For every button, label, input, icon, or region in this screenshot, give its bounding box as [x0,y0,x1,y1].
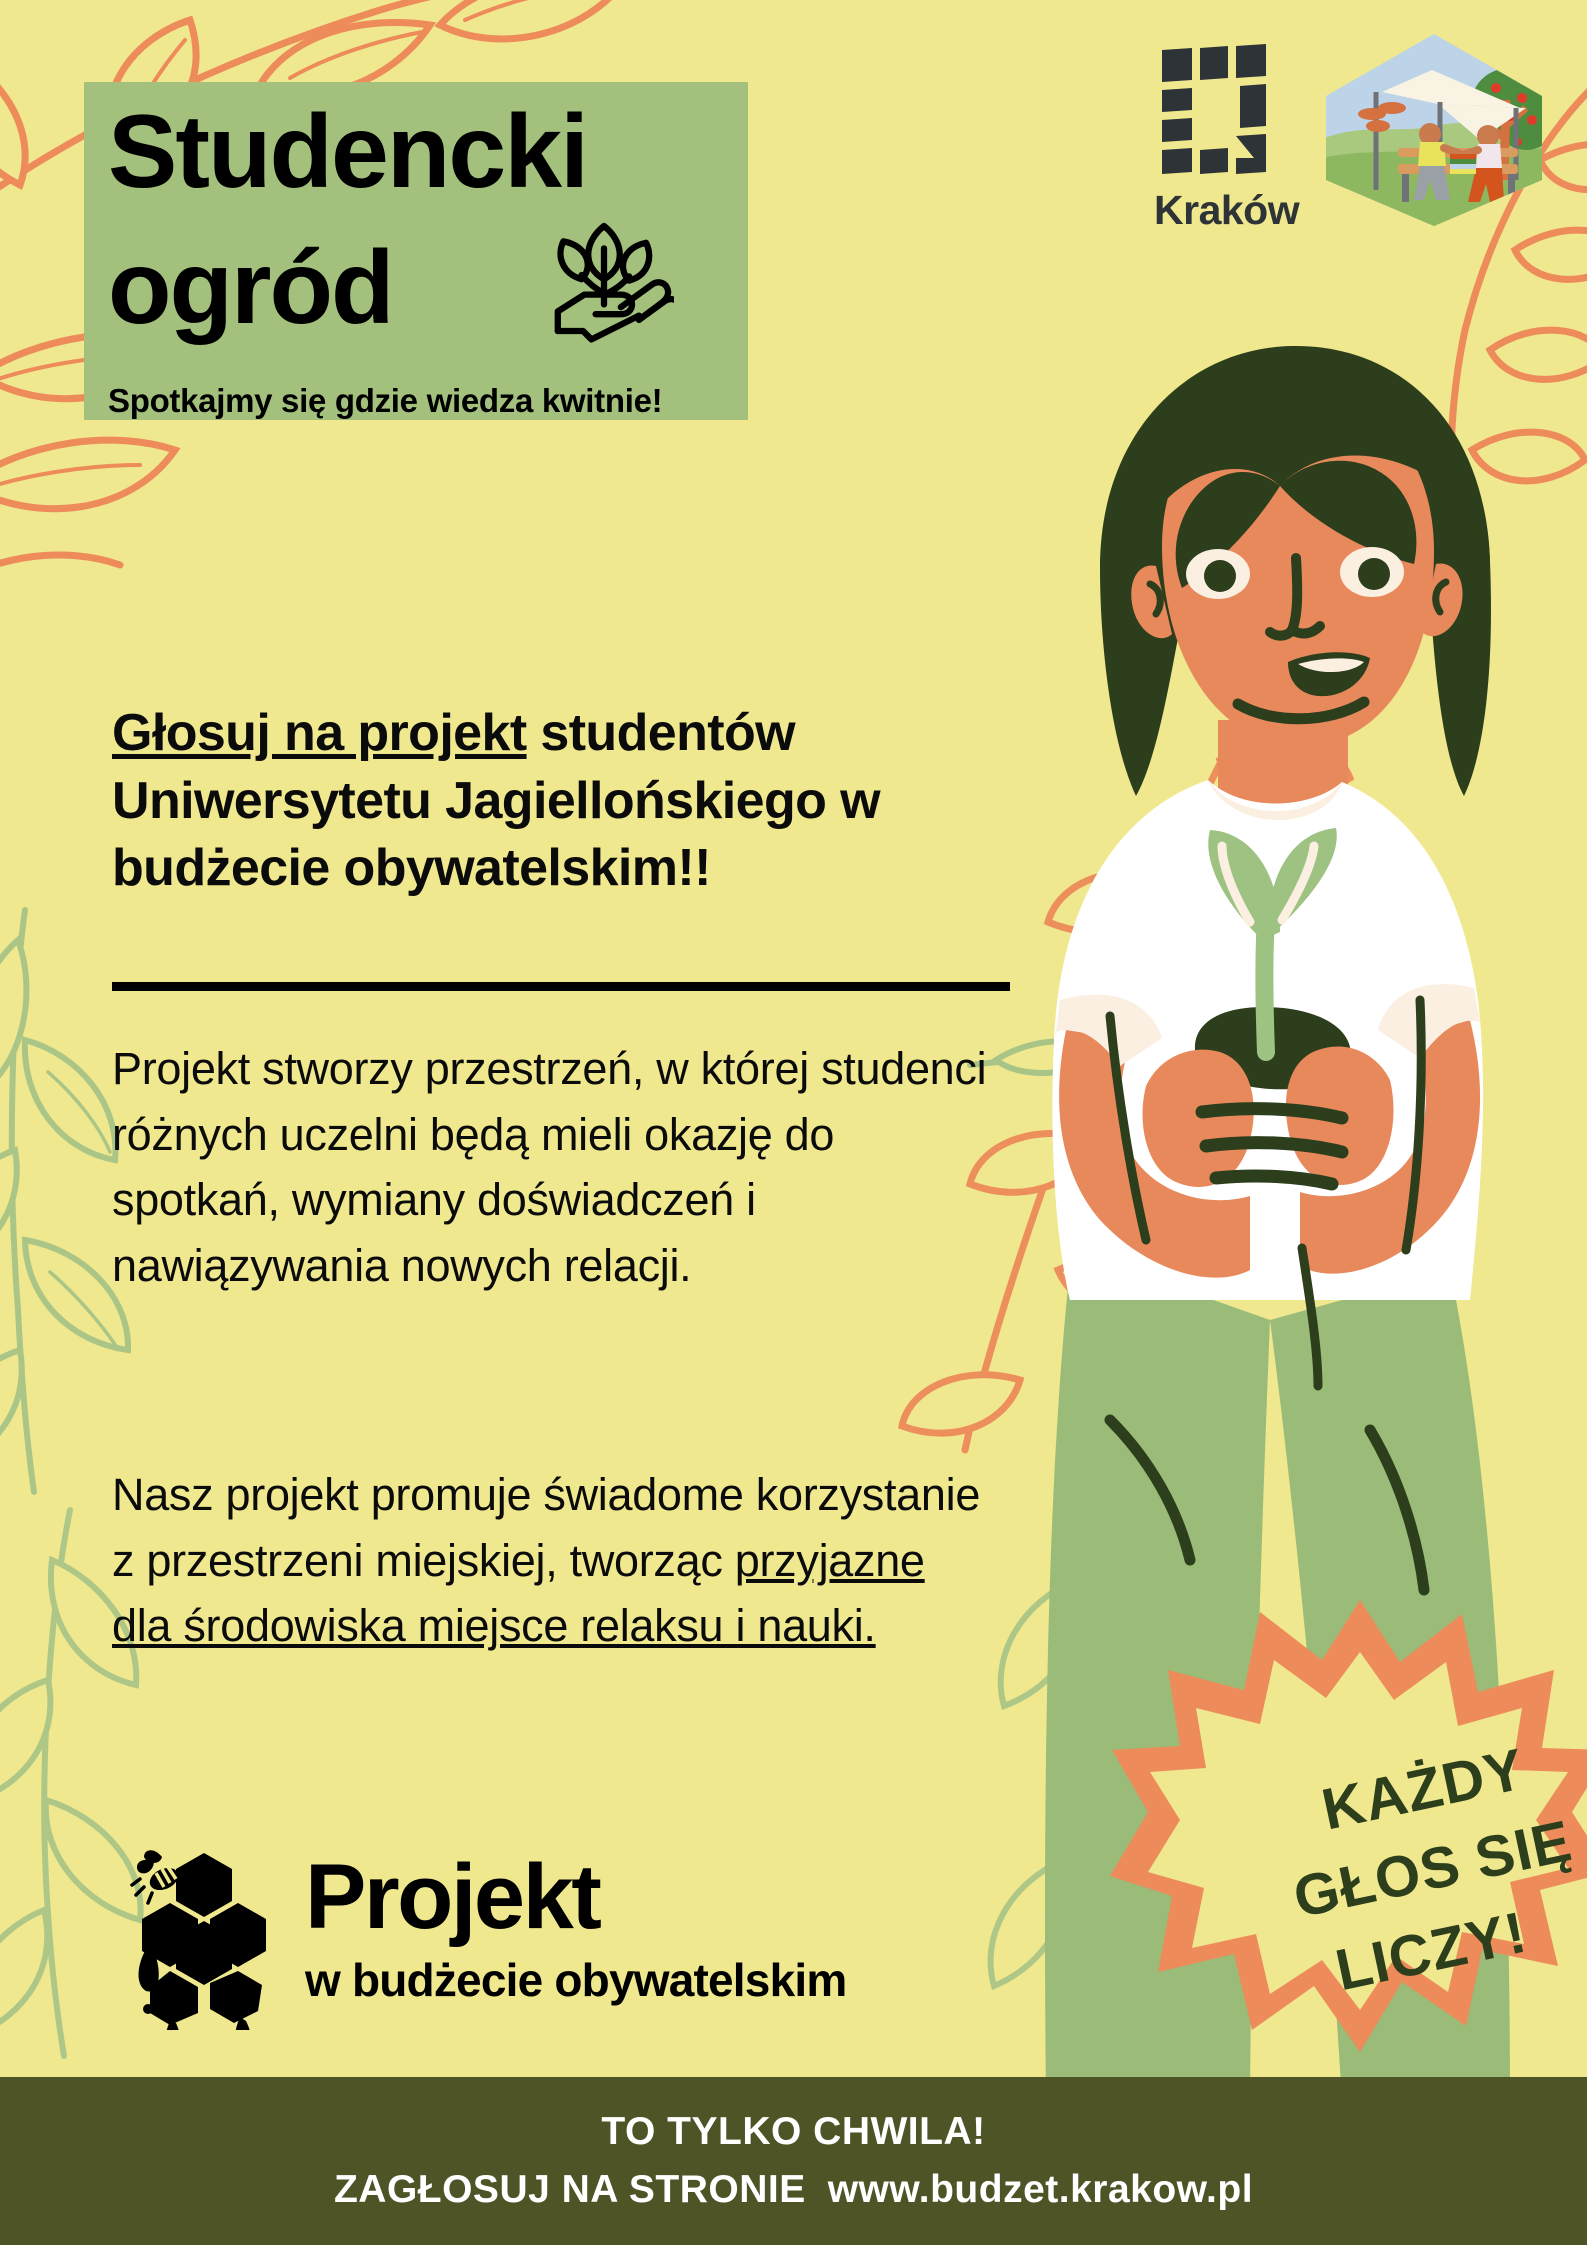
footer-url[interactable]: www.budzet.krakow.pl [828,2168,1253,2211]
krakow-wordmark: Kraków [1154,187,1288,234]
title-card: Studencki ogród Spotkajmy się g [84,82,748,420]
park-bench-hexagon-illustration [1320,30,1548,230]
krakow-logo: Kraków [1158,40,1288,240]
krakow-mark-icon [1158,40,1270,176]
body-paragraph-2: Nasz projekt promuje świadome korzystani… [112,1462,992,1659]
footer-line-1: TO TYLKO CHWILA! [601,2110,985,2154]
horizontal-divider [112,982,1010,991]
hand-holding-plant-icon [534,212,674,352]
projekt-budget-logo: Projekt w budżecie obywatelskim [120,1845,910,2035]
page-title-line1: Studencki [108,98,587,207]
projekt-logo-subtitle: w budżecie obywatelskim [305,1957,846,2003]
body-paragraph-1: Projekt stworzy przestrzeń, w której stu… [112,1036,992,1299]
starburst-badge: KAŻDY GŁOS SIĘ LICZY! [1110,1600,1587,2060]
page-subtitle: Spotkajmy się gdzie wiedza kwitnie! [108,382,662,420]
poster-root: Studencki ogród Spotkajmy się g [0,0,1587,2245]
bee-honeycomb-icon [120,1845,290,2030]
footer-cta-text: ZAGŁOSUJ NA STRONIE [334,2168,806,2211]
footer-line-2: ZAGŁOSUJ NA STRONIEwww.budzet.krakow.pl [334,2168,1253,2212]
lead-underlined-text: Głosuj na projekt [112,704,527,762]
footer-bar: TO TYLKO CHWILA! ZAGŁOSUJ NA STRONIEwww.… [0,2077,1587,2245]
projekt-logo-title: Projekt [305,1851,599,1943]
page-title-line2: ogród [108,234,393,343]
lead-paragraph: Głosuj na projekt studentów Uniwersytetu… [112,700,1012,903]
